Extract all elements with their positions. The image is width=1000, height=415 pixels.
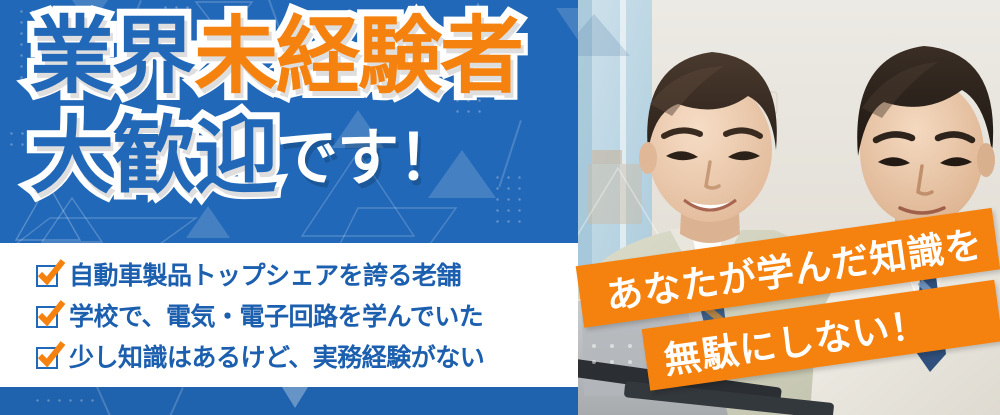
headline-desu: です！ — [276, 124, 459, 193]
checkbox-checked-icon — [36, 347, 58, 369]
slash-line-bottom-2 — [164, 387, 183, 415]
list-item: 学校で、電気・電子回路を学んでいた — [36, 298, 578, 336]
headline-line-2: 大歓迎です！ — [30, 114, 560, 206]
checkbox-checked-icon — [36, 306, 58, 328]
list-item: 少し知識はあるけど、実務経験がない — [36, 339, 578, 377]
dot-grid-left-mid — [6, 128, 32, 154]
slash-line-bottom-1 — [96, 387, 115, 415]
list-item-label: 自動車製品トップシェアを誇る老舗 — [69, 264, 461, 289]
headline-kanji-daikangei: 大歓迎 — [30, 114, 276, 198]
list-item-label: 学校で、電気・電子回路を学んでいた — [69, 305, 483, 330]
headline-line-1: 業界未経験者 — [30, 14, 560, 110]
list-item: 自動車製品トップシェアを誇る老舗 — [36, 257, 578, 295]
bottom-blue-strip — [0, 387, 578, 415]
checkbox-checked-icon — [36, 265, 58, 287]
headline-kanji-mikeikensha: 未経験者 — [194, 14, 522, 98]
headline: 業界未経験者 大歓迎です！ — [30, 14, 560, 206]
recruitment-banner: 業界未経験者 大歓迎です！ 自動車製品トップシェアを誇る老舗 学校で、電気・電子… — [0, 0, 1000, 415]
dot-row-bottom — [32, 395, 98, 407]
benefits-list-panel: 自動車製品トップシェアを誇る老舗 学校で、電気・電子回路を学んでいた 少し知識は… — [0, 243, 578, 387]
list-item-label: 少し知識はあるけど、実務経験がない — [69, 346, 484, 371]
left-blue-panel: 業界未経験者 大歓迎です！ 自動車製品トップシェアを誇る老舗 学校で、電気・電子… — [0, 0, 578, 415]
headline-kanji-gyokai: 業界 — [30, 14, 194, 98]
triangle-down-bottom-strip — [282, 387, 308, 408]
